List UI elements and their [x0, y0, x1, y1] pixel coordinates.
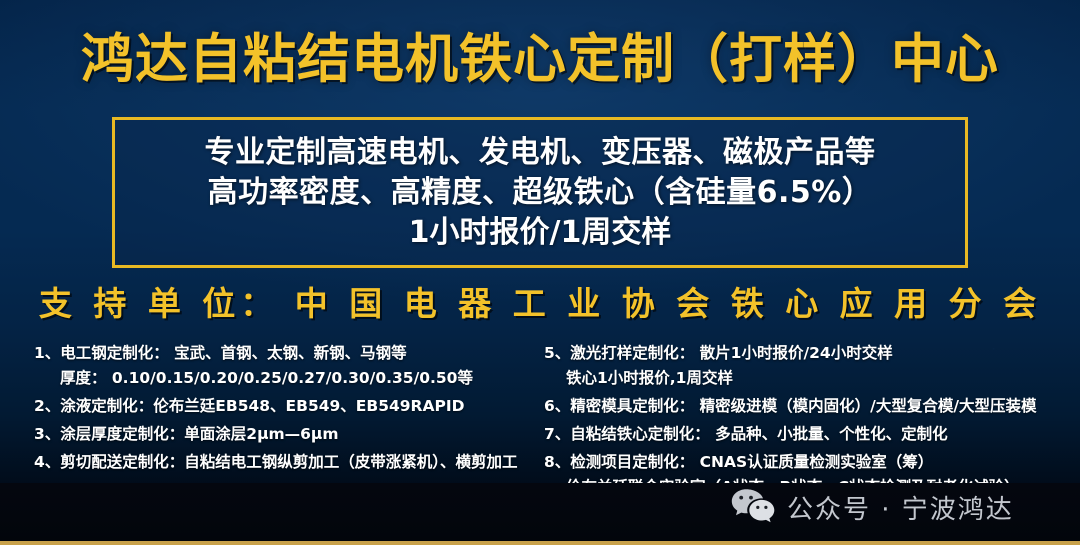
list-item-main: 5、激光打样定制化： 散片1小时报价/24小时交样	[544, 344, 893, 362]
list-item: 3、涂层厚度定制化：单面涂层2μm—6μm	[34, 422, 530, 447]
wechat-label: 公众号 · 宁波鸿达	[787, 489, 1014, 526]
list-item-main: 7、自粘结铁心定制化： 多品种、小批量、个性化、定制化	[544, 425, 948, 443]
poster-root: 鸿达自粘结电机铁心定制（打样）中心 专业定制高速电机、发电机、变压器、磁极产品等…	[0, 0, 1080, 545]
list-item-main: 1、电工钢定制化： 宝武、首钢、太钢、新钢、马钢等	[34, 344, 407, 362]
list-item: 6、精密模具定制化： 精密级进模（模内固化）/大型复合模/大型压装模	[544, 394, 1080, 419]
list-item-sub: 铁心1小时报价,1周交样	[544, 366, 1080, 391]
customization-list-left: 1、电工钢定制化： 宝武、首钢、太钢、新钢、马钢等 厚度： 0.10/0.15/…	[0, 341, 530, 481]
list-item: 7、自粘结铁心定制化： 多品种、小批量、个性化、定制化	[544, 422, 1080, 447]
list-item-main: 2、涂液定制化：伦布兰廷EB548、EB549、EB549RAPID	[34, 397, 464, 415]
highlight-line-2: 高功率密度、高精度、超级铁心（含硅量6.5%）	[208, 173, 873, 213]
wechat-account[interactable]: 公众号 · 宁波鸿达	[730, 488, 1014, 526]
highlight-box: 专业定制高速电机、发电机、变压器、磁极产品等 高功率密度、高精度、超级铁心（含硅…	[112, 117, 968, 268]
list-item: 2、涂液定制化：伦布兰廷EB548、EB549、EB549RAPID	[34, 394, 530, 419]
list-item: 5、激光打样定制化： 散片1小时报价/24小时交样 铁心1小时报价,1周交样	[544, 341, 1080, 391]
customization-list: 1、电工钢定制化： 宝武、首钢、太钢、新钢、马钢等 厚度： 0.10/0.15/…	[0, 341, 1080, 481]
page-title: 鸿达自粘结电机铁心定制（打样）中心	[0, 30, 1080, 90]
customization-list-right: 5、激光打样定制化： 散片1小时报价/24小时交样 铁心1小时报价,1周交样 6…	[530, 341, 1080, 481]
list-item: 4、剪切配送定制化：自粘结电工钢纵剪加工（皮带涨紧机）、横剪加工	[34, 450, 530, 475]
list-item-main: 8、检测项目定制化： CNAS认证质量检测实验室（筹）	[544, 453, 933, 471]
highlight-line-3: 1小时报价/1周交样	[409, 213, 672, 253]
support-organization: 支 持 单 位： 中 国 电 器 工 业 协 会 铁 心 应 用 分 会	[0, 283, 1080, 325]
list-item-sub: 厚度： 0.10/0.15/0.20/0.25/0.27/0.30/0.35/0…	[34, 366, 530, 391]
list-item: 1、电工钢定制化： 宝武、首钢、太钢、新钢、马钢等 厚度： 0.10/0.15/…	[34, 341, 530, 391]
list-item-main: 4、剪切配送定制化：自粘结电工钢纵剪加工（皮带涨紧机）、横剪加工	[34, 453, 518, 471]
list-item-main: 3、涂层厚度定制化：单面涂层2μm—6μm	[34, 425, 338, 443]
highlight-line-1: 专业定制高速电机、发电机、变压器、磁极产品等	[205, 133, 876, 173]
list-item-main: 6、精密模具定制化： 精密级进模（模内固化）/大型复合模/大型压装模	[544, 397, 1037, 415]
wechat-icon	[730, 488, 776, 526]
